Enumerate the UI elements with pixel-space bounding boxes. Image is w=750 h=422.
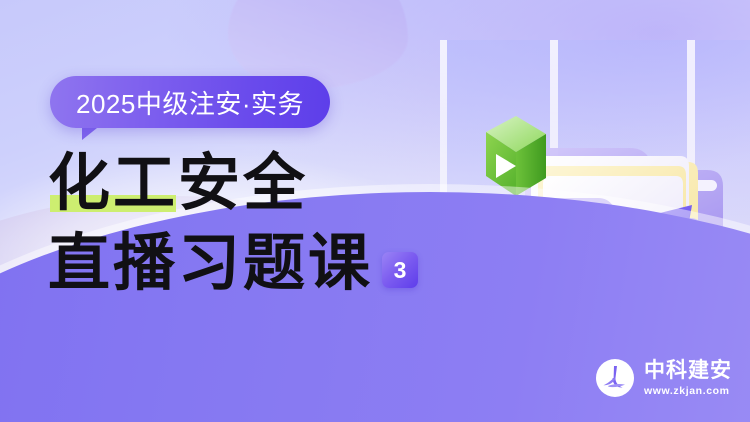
title-line-2-row: 直播习题课 3 (48, 232, 418, 298)
brand-name: 中科建安 (644, 360, 732, 381)
brand-url: www.zkjan.com (644, 386, 732, 397)
title-line-1: 化工安全 (48, 152, 308, 218)
title-line-2: 直播习题课 (48, 232, 373, 298)
title-line-1-row: 化工安全 (48, 152, 418, 218)
course-category-label: 2025中级注安·实务 (76, 84, 304, 121)
brand-logo-text: 中科建安 www.zkjan.com (644, 360, 732, 397)
course-cover-poster: 2025中级注安·实务 化工安全 直播习题课 3 中科建安 www.zkjan.… (0, 0, 750, 422)
course-category-badge: 2025中级注安·实务 (50, 76, 330, 128)
zkjan-circle-icon (595, 358, 635, 398)
poster-title: 化工安全 直播习题课 3 (48, 152, 418, 297)
brand-logo[interactable]: 中科建安 www.zkjan.com (595, 358, 732, 398)
episode-number-badge: 3 (382, 252, 418, 288)
